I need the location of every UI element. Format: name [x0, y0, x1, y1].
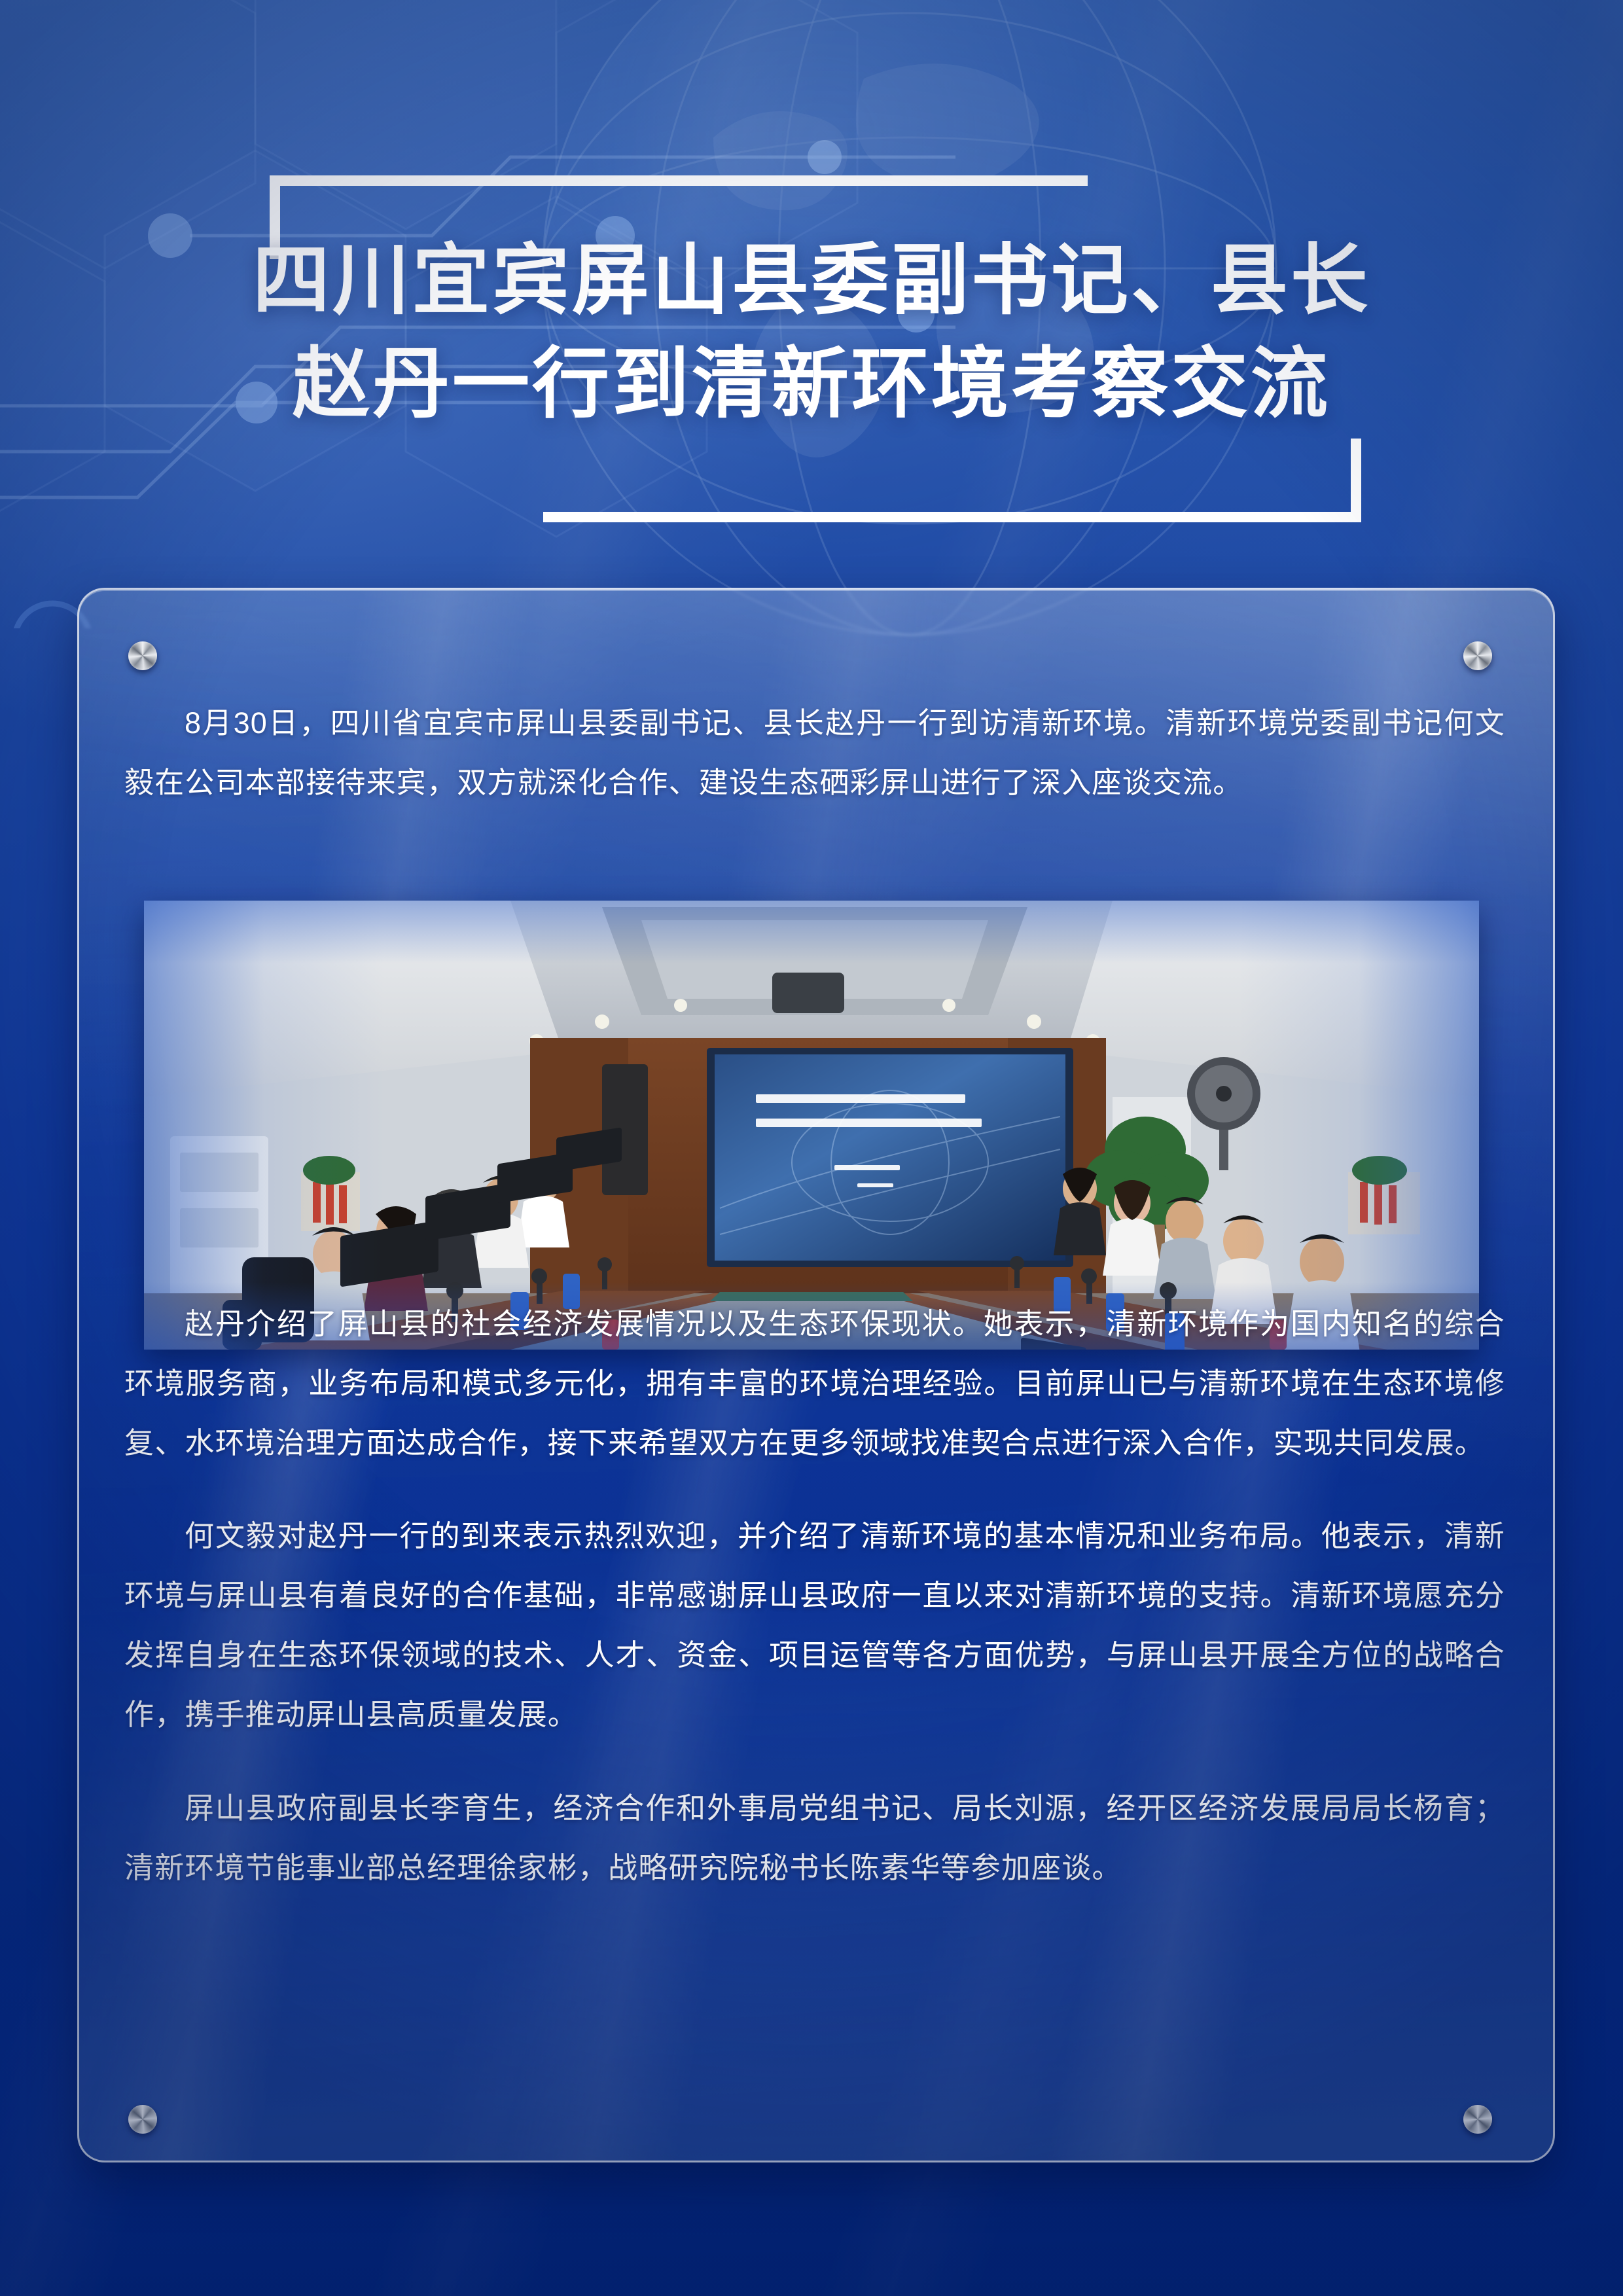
page-title-line-1: 四川宜宾屏山县委副书记、县长	[0, 229, 1623, 332]
paragraph-4: 屏山县政府副县长李育生，经济合作和外事局党组书记、局长刘源，经开区经济发展局局长…	[124, 1779, 1505, 1898]
bracket-bottom-right-horizontal	[543, 512, 1361, 522]
paragraph-3: 何文毅对赵丹一行的到来表示热烈欢迎，并介绍了清新环境的基本情况和业务布局。他表示…	[124, 1507, 1505, 1745]
poster-header: 四川宜宾屏山县委副书记、县长 赵丹一行到清新环境考察交流	[0, 0, 1623, 576]
page-title-line-2: 赵丹一行到清新环境考察交流	[0, 332, 1623, 436]
screw-bottom-left-icon	[128, 2105, 157, 2134]
article-body: 8月30日，四川省宜宾市屏山县委副书记、县长赵丹一行到访清新环境。清新环境党委副…	[124, 694, 1505, 1928]
screw-top-left-icon	[128, 641, 157, 670]
bracket-top-left-horizontal	[270, 175, 1088, 186]
screw-bottom-right-icon	[1463, 2105, 1492, 2134]
photo-flow-spacer	[124, 843, 1505, 1295]
page-title: 四川宜宾屏山县委副书记、县长 赵丹一行到清新环境考察交流	[0, 229, 1623, 436]
screw-top-right-icon	[1463, 641, 1492, 670]
poster-root: 四川宜宾屏山县委副书记、县长 赵丹一行到清新环境考察交流	[0, 0, 1623, 2296]
paragraph-1: 8月30日，四川省宜宾市屏山县委副书记、县长赵丹一行到访清新环境。清新环境党委副…	[124, 694, 1505, 813]
bracket-bottom-right-vertical	[1351, 439, 1361, 522]
paragraph-2: 赵丹介绍了屏山县的社会经济发展情况以及生态环保现状。她表示，清新环境作为国内知名…	[124, 1295, 1505, 1473]
